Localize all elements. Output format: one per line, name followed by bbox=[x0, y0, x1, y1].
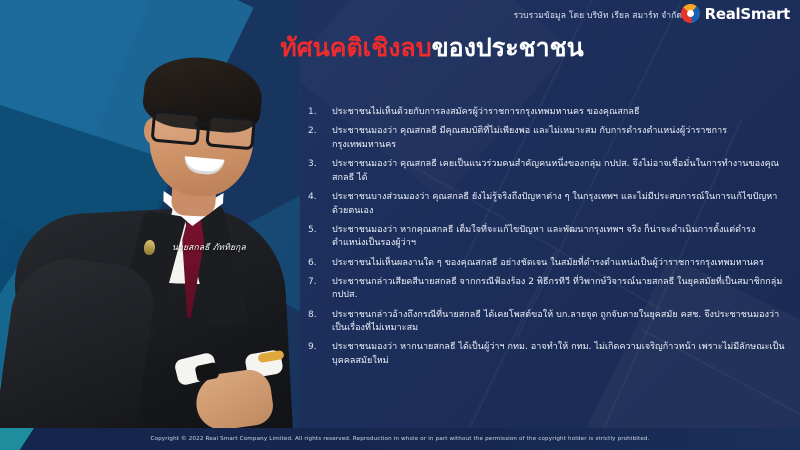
list-item-number: 4. bbox=[308, 191, 332, 205]
page-title-rest: ของประชาชน bbox=[432, 33, 584, 62]
list-item-text: ประชาชนกล่าวเสียดสีนายสกลธี จากกรณีฟ้องร… bbox=[332, 276, 786, 303]
list-item-number: 1. bbox=[308, 106, 332, 120]
list-item: 1. ประชาชนไม่เห็นด้วยกับการลงสมัครผู้ว่า… bbox=[308, 106, 786, 120]
brand-wordmark: RealSmart bbox=[705, 5, 790, 23]
list-item-number: 3. bbox=[308, 158, 332, 172]
list-item-text: ประชาชนมองว่า คุณสกลธี มีคุณสมบัติที่ไม่… bbox=[332, 125, 786, 152]
list-item-number: 5. bbox=[308, 224, 332, 238]
list-item-number: 9. bbox=[308, 341, 332, 355]
footer-bar: Copyright © 2022 Real Smart Company Limi… bbox=[0, 428, 800, 450]
speaker-photo-panel bbox=[0, 0, 300, 450]
list-item-text: ประชาชนบางส่วนมองว่า คุณสกลธี ยังไม่รู้จ… bbox=[332, 191, 786, 218]
list-item-number: 7. bbox=[308, 276, 332, 290]
list-item-number: 2. bbox=[308, 125, 332, 139]
list-item: 3. ประชาชนมองว่า คุณสกลธี เคยเป็นแนวร่วม… bbox=[308, 158, 786, 185]
list-item: 7. ประชาชนกล่าวเสียดสีนายสกลธี จากกรณีฟ้… bbox=[308, 276, 786, 303]
brand-word-real: Real bbox=[705, 5, 741, 23]
list-item-text: ประชาชนไม่เห็นด้วยกับการลงสมัครผู้ว่าราช… bbox=[332, 106, 640, 120]
list-item-number: 8. bbox=[308, 309, 332, 323]
list-item-text: ประชาชนไม่เห็นผลงานใด ๆ ของคุณสกลธี อย่า… bbox=[332, 257, 764, 271]
list-item: 5. ประชาชนมองว่า หากคุณสกลธี เต็มใจที่จะ… bbox=[308, 224, 786, 251]
list-item-text: ประชาชนมองว่า หากคุณสกลธี เต็มใจที่จะแก้… bbox=[332, 224, 786, 251]
brand-word-smart: Smart bbox=[740, 5, 790, 23]
page-title-highlight: ทัศนคติเชิงลบ bbox=[280, 33, 431, 62]
list-item-text: ประชาชนมองว่า หากนายสกลธี ได้เป็นผู้ว่าฯ… bbox=[332, 341, 786, 368]
list-item: 8. ประชาชนกล่าวอ้างถึงกรณีที่นายสกลธี ได… bbox=[308, 309, 786, 336]
speaker-portrait bbox=[0, 0, 300, 450]
header-credit-text: รวบรวมข้อมูล โดย บริษัท เรียล สมาร์ท จำก… bbox=[514, 8, 682, 22]
negative-attitude-list: 1. ประชาชนไม่เห็นด้วยกับการลงสมัครผู้ว่า… bbox=[308, 106, 786, 374]
copyright-text: Copyright © 2022 Real Smart Company Limi… bbox=[0, 428, 800, 450]
realsmart-circle-logo-icon bbox=[681, 4, 700, 23]
list-item: 9. ประชาชนมองว่า หากนายสกลธี ได้เป็นผู้ว… bbox=[308, 341, 786, 368]
list-item: 6. ประชาชนไม่เห็นผลงานใด ๆ ของคุณสกลธี อ… bbox=[308, 257, 786, 271]
list-item-text: ประชาชนกล่าวอ้างถึงกรณีที่นายสกลธี ได้เค… bbox=[332, 309, 786, 336]
list-item-number: 6. bbox=[308, 257, 332, 271]
realsmart-brand: RealSmart bbox=[681, 4, 790, 23]
list-item-text: ประชาชนมองว่า คุณสกลธี เคยเป็นแนวร่วมคนส… bbox=[332, 158, 786, 185]
slide-canvas: นายสกลธี ภัททิยกุล รวบรวมข้อมูล โดย บริษ… bbox=[0, 0, 800, 450]
list-item: 2. ประชาชนมองว่า คุณสกลธี มีคุณสมบัติที่… bbox=[308, 125, 786, 152]
speaker-name-caption: นายสกลธี ภัททิยกุล bbox=[172, 240, 246, 254]
page-title: ทัศนคติเชิงลบของประชาชน bbox=[232, 34, 632, 62]
list-item: 4. ประชาชนบางส่วนมองว่า คุณสกลธี ยังไม่ร… bbox=[308, 191, 786, 218]
